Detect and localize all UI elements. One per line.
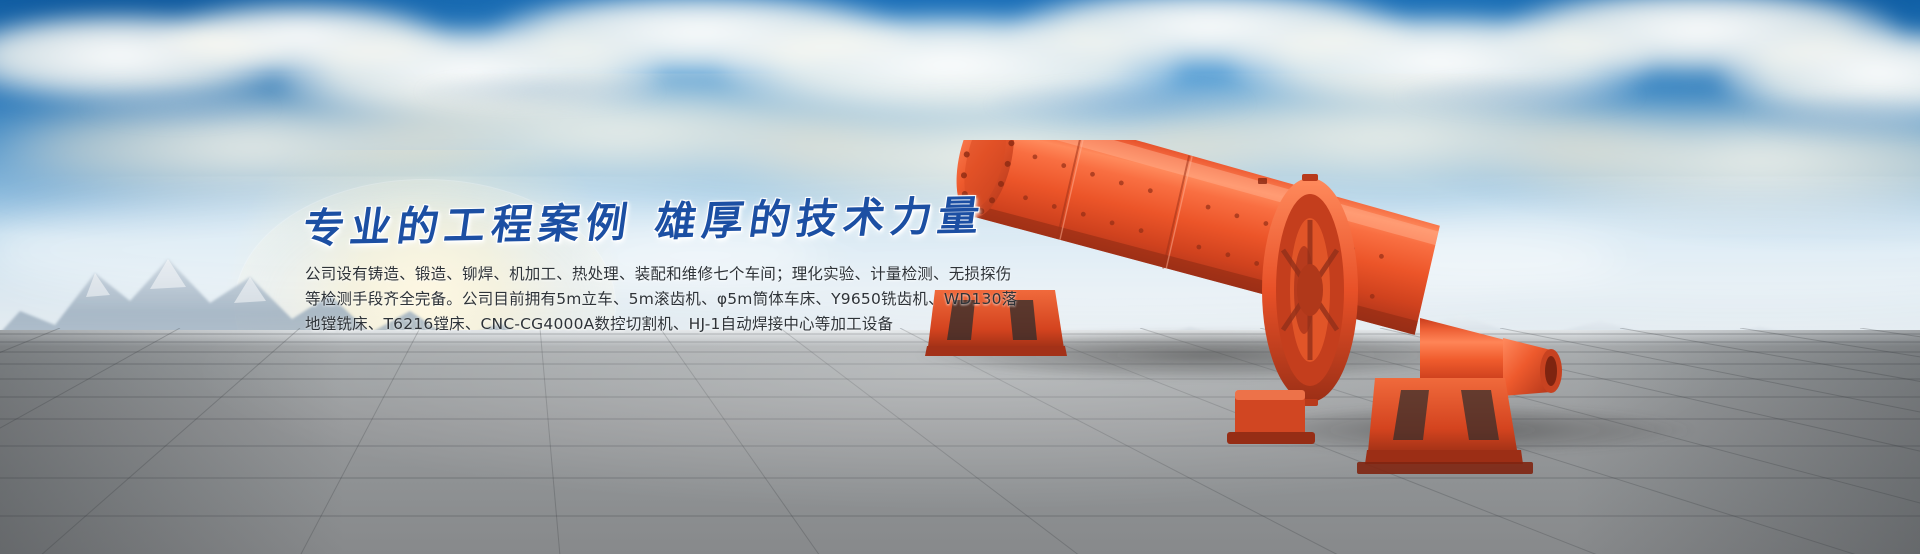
description-line-3: 地镗铣床、T6216镗床、CNC-CG4000A数控切割机、HJ-1自动焊接中心… — [305, 312, 1205, 337]
headline-part-1: 专业的工程案例 — [300, 198, 637, 252]
description-line-1: 公司设有铸造、锻造、铆焊、机加工、热处理、装配和维修七个车间；理化实验、计量检测… — [305, 262, 1205, 287]
gear-teeth — [1258, 178, 1267, 184]
gear-hub — [1297, 264, 1323, 316]
headline-part-2: 雄厚的技术力量 — [652, 192, 989, 246]
mill-drive-pinion — [1227, 390, 1315, 444]
banner-copy: 专业的工程案例雄厚的技术力量 公司设有铸造、锻造、铆焊、机加工、热处理、装配和维… — [305, 186, 1205, 337]
banner-description: 公司设有铸造、锻造、铆焊、机加工、热处理、装配和维修七个车间；理化实验、计量检测… — [305, 262, 1205, 337]
banner-headline: 专业的工程案例雄厚的技术力量 — [300, 177, 1211, 254]
description-line-2: 等检测手段齐全完备。公司目前拥有5m立车、5m滚齿机、φ5m筒体车床、Y9650… — [305, 287, 1205, 312]
mill-support-right — [1357, 378, 1533, 474]
hero-banner: 专业的工程案例雄厚的技术力量 公司设有铸造、锻造、铆焊、机加工、热处理、装配和维… — [0, 0, 1920, 554]
